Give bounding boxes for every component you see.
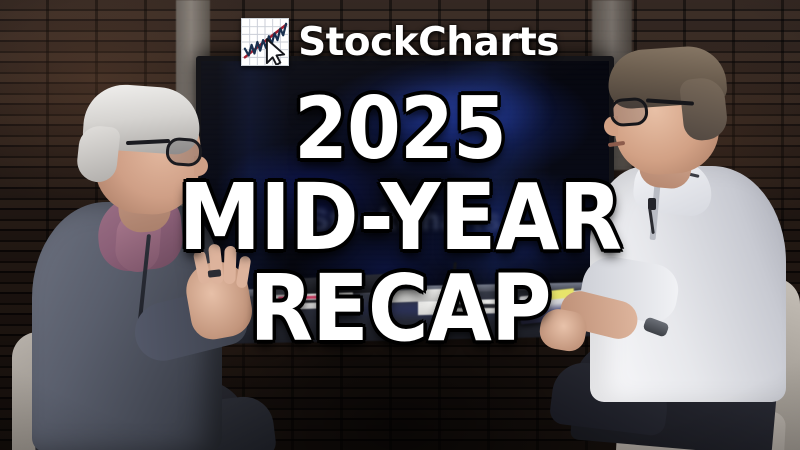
stockcharts-chart-icon: [241, 18, 289, 66]
thumbnail-title: 2025 MID-YEAR RECAP: [0, 92, 800, 350]
video-thumbnail: StockCharts: [0, 0, 800, 450]
title-line-1: 2025: [40, 92, 760, 168]
title-line-3: RECAP: [40, 269, 760, 350]
brand-wordmark: StockCharts: [298, 23, 559, 62]
title-line-2: MID-YEAR: [40, 178, 760, 259]
brand-logo: StockCharts: [0, 18, 800, 66]
